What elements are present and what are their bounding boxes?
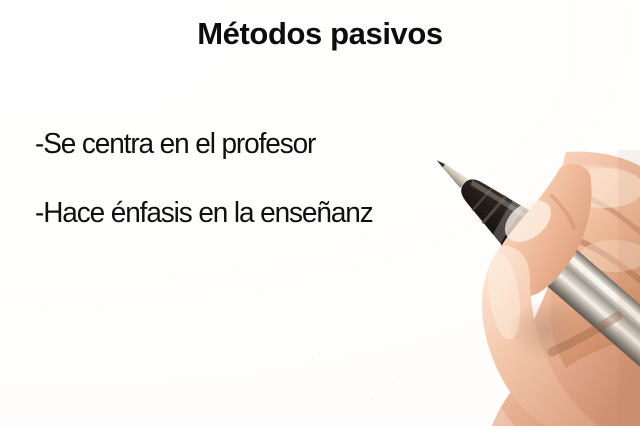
- bullet-item-1: -Se centra en el profesor: [35, 130, 315, 159]
- pen-barrel-highlight: [528, 221, 640, 348]
- slide-canvas: Métodos pasivos -Se centra en el profeso…: [0, 0, 640, 426]
- finger-crease: [578, 240, 640, 280]
- thumb-highlight: [483, 250, 525, 341]
- bullet-item-2: -Hace énfasis en la enseñanz: [35, 199, 373, 228]
- paper-speck: [455, 413, 457, 415]
- finger-crease: [584, 196, 640, 232]
- pen-grip-highlight: [469, 172, 528, 226]
- slide-title: Métodos pasivos: [0, 17, 640, 50]
- knuckle-highlight: [564, 168, 640, 208]
- thumb-pen-shadow: [508, 300, 588, 360]
- silhouette-feather: [463, 148, 560, 426]
- edge-shade: [618, 150, 640, 426]
- pen-nib-tip: [436, 158, 445, 167]
- hand-back-mass: [514, 152, 640, 426]
- pen-barrel: [505, 214, 640, 374]
- pen-grip-ring: [483, 196, 507, 223]
- pen-collar: [500, 209, 539, 252]
- index-finger-crease: [552, 196, 574, 228]
- pen-grip: [450, 166, 532, 246]
- index-finger: [493, 164, 592, 298]
- finger-crease: [570, 286, 638, 326]
- paper-speck: [370, 398, 372, 400]
- index-fingertip-highlight: [497, 192, 559, 251]
- thumb: [482, 246, 598, 426]
- wrist-mass: [492, 300, 640, 426]
- pen: [421, 141, 640, 375]
- pen-barrel-highlight: [516, 236, 640, 361]
- pen-grip-ring: [472, 189, 491, 211]
- paper-speck: [398, 377, 400, 379]
- palm-crease: [552, 316, 618, 352]
- paper-speck: [312, 356, 315, 359]
- paper-speck: [435, 340, 437, 342]
- finger-bundle: [551, 165, 640, 368]
- pen-nib: [436, 158, 468, 188]
- knuckle-highlight: [580, 240, 640, 272]
